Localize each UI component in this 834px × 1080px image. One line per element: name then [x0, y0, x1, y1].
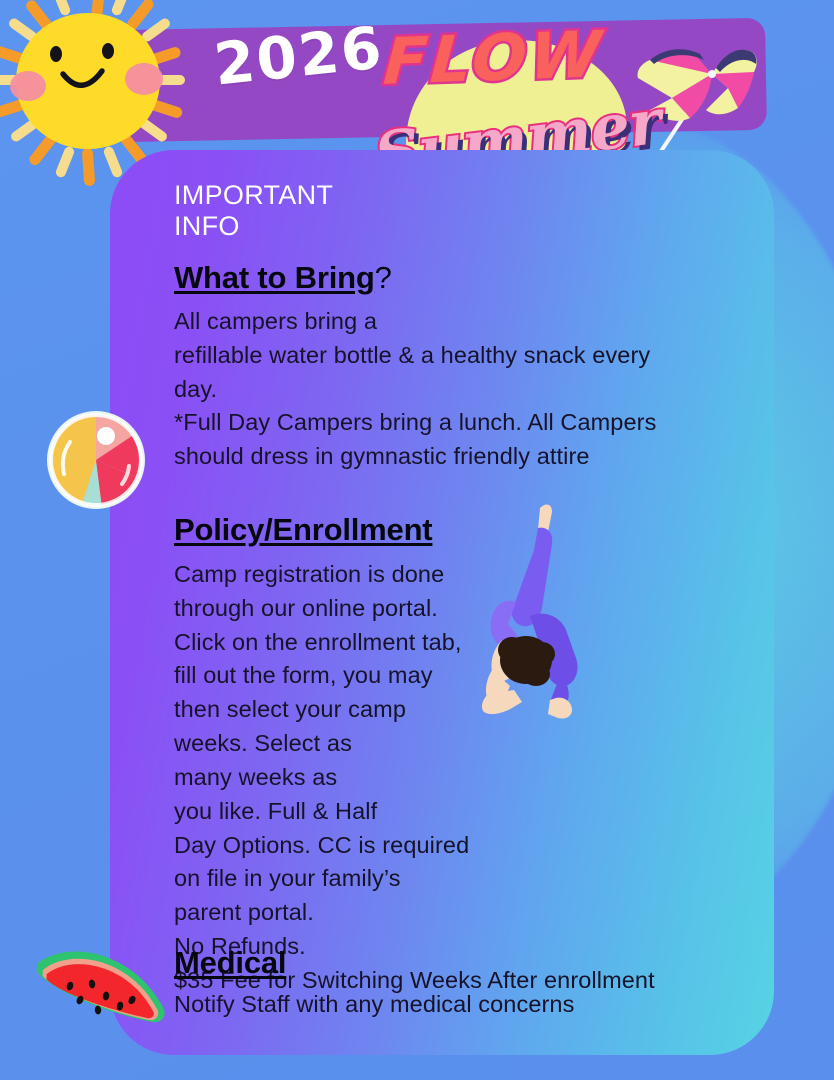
beach-ball-icon: [44, 408, 148, 512]
heading-what-to-bring-underline: What to Bring: [174, 260, 375, 295]
watermelon-slice-icon: [22, 944, 177, 1044]
logo-flow-text: FLOW: [381, 18, 606, 100]
body-what-to-bring: All campers bring a refillable water bot…: [174, 305, 714, 474]
body-policy-enrollment: Camp registration is done through our on…: [174, 558, 694, 998]
gymnast-icon: [472, 498, 612, 730]
info-card: IMPORTANT INFO What to Bring? All camper…: [110, 150, 774, 1055]
heading-policy-enrollment: Policy/Enrollment: [174, 512, 432, 548]
camp-flyer: 2026: [0, 0, 834, 1080]
heading-medical-underline: Medical: [174, 945, 286, 980]
heading-medical: Medical: [174, 945, 286, 981]
important-info-kicker: IMPORTANT INFO: [174, 180, 333, 242]
heading-policy-enrollment-underline: Policy/Enrollment: [174, 512, 432, 547]
body-medical: Notify Staff with any medical concerns: [174, 988, 694, 1022]
heading-what-to-bring-suffix: ?: [375, 260, 392, 295]
heading-what-to-bring: What to Bring?: [174, 260, 392, 296]
